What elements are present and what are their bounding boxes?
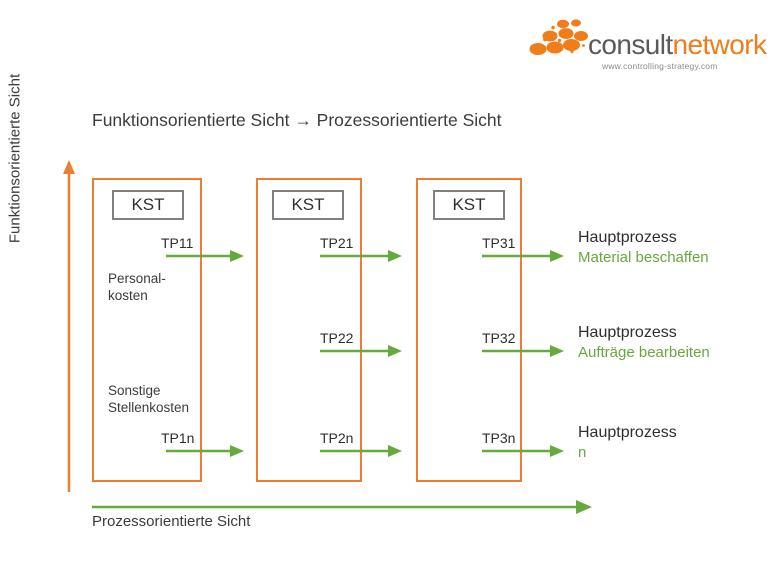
process-arrow-tp22 <box>320 345 402 357</box>
tp-label-tp3n: TP3n <box>482 430 515 446</box>
process-name-1: Material beschaffen <box>578 248 709 268</box>
tp-label-tp11: TP11 <box>161 235 193 251</box>
logo-tagline: www.controlling-strategy.com <box>602 61 718 71</box>
process-arrow-tp11 <box>166 250 244 262</box>
vertical-axis-label: Funktionsorientierte Sicht <box>7 9 24 309</box>
process-arrow-tp31 <box>482 250 564 262</box>
logo-dots-icon <box>528 18 594 58</box>
horizontal-axis-arrow <box>92 500 592 514</box>
process-arrow-tp3n <box>482 445 564 457</box>
slide-canvas: consultnetwork www.controlling-strategy.… <box>0 0 775 569</box>
process-title-1: Hauptprozess <box>578 228 709 248</box>
tp-label-tp32: TP32 <box>482 330 515 346</box>
logo-wordmark: consultnetwork <box>588 31 766 59</box>
company-logo: consultnetwork www.controlling-strategy.… <box>528 18 738 70</box>
process-label-3: Hauptprozess n <box>578 423 677 463</box>
process-arrow-tp32 <box>482 345 564 357</box>
tp-label-tp1n: TP1n <box>161 430 194 446</box>
process-name-2: Aufträge bearbeiten <box>578 343 710 363</box>
vertical-axis-arrow <box>62 160 76 492</box>
horizontal-axis-label: Prozessorientierte Sicht <box>92 513 250 530</box>
cost-label-stellenkosten: Sonstige Stellenkosten <box>108 382 189 416</box>
process-name-3: n <box>578 443 677 463</box>
kst-title-box-1: KST <box>112 190 184 220</box>
kst-title-box-3: KST <box>433 190 505 220</box>
process-label-1: Hauptprozess Material beschaffen <box>578 228 709 268</box>
page-title: Funktionsorientierte Sicht → Prozessorie… <box>92 110 501 131</box>
tp-label-tp31: TP31 <box>482 235 515 251</box>
logo-network-text: network <box>673 29 767 60</box>
tp-label-tp2n: TP2n <box>320 430 353 446</box>
process-arrow-tp2n <box>320 445 402 457</box>
tp-label-tp21: TP21 <box>320 235 353 251</box>
process-label-2: Hauptprozess Aufträge bearbeiten <box>578 323 710 363</box>
process-arrow-tp1n <box>166 445 244 457</box>
cost-label-personalkosten: Personal- kosten <box>108 270 166 304</box>
kst-title-box-2: KST <box>272 190 344 220</box>
logo-consult-text: consult <box>588 29 673 60</box>
process-arrow-tp21 <box>320 250 402 262</box>
tp-label-tp22: TP22 <box>320 330 353 346</box>
process-title-2: Hauptprozess <box>578 323 710 343</box>
process-title-3: Hauptprozess <box>578 423 677 443</box>
